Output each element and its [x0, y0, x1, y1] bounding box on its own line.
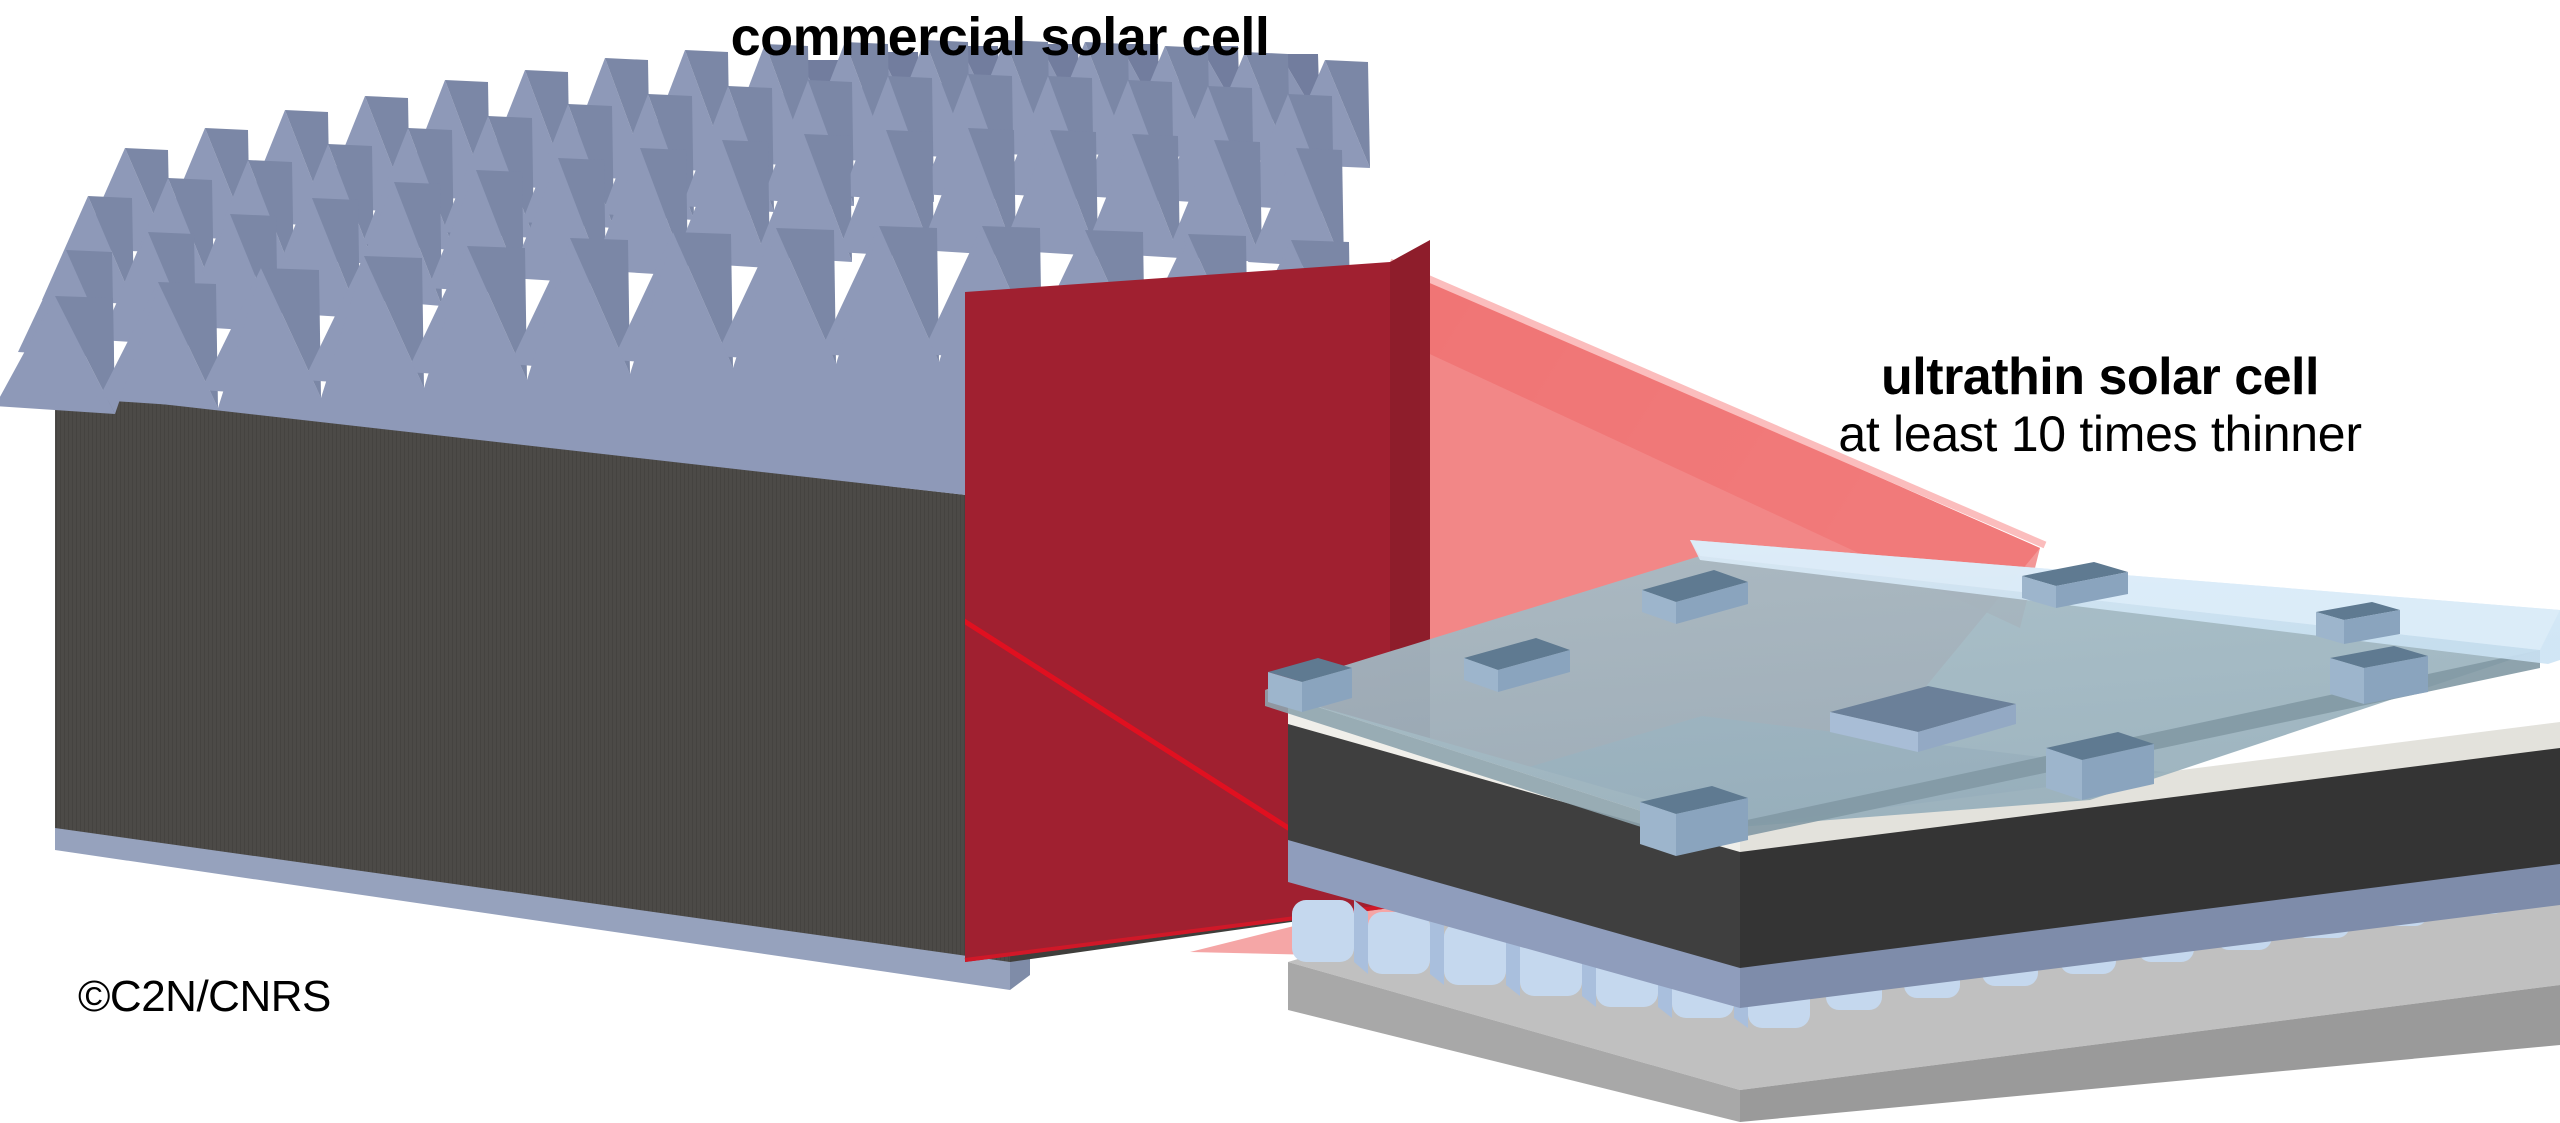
ultrathin-solar-cell-subtitle: at least 10 times thinner	[1700, 406, 2500, 463]
illustration-canvas: commercial solar cell ultrathin solar ce…	[0, 0, 2560, 1123]
copyright-credit: ©C2N/CNRS	[78, 972, 331, 1022]
ultrathin-solar-cell-label-group: ultrathin solar cell at least 10 times t…	[1700, 348, 2500, 463]
ultrathin-solar-cell-title: ultrathin solar cell	[1700, 348, 2500, 406]
commercial-solar-cell-title: commercial solar cell	[0, 6, 2000, 68]
solar-cell-comparison-illustration	[0, 0, 2560, 1123]
